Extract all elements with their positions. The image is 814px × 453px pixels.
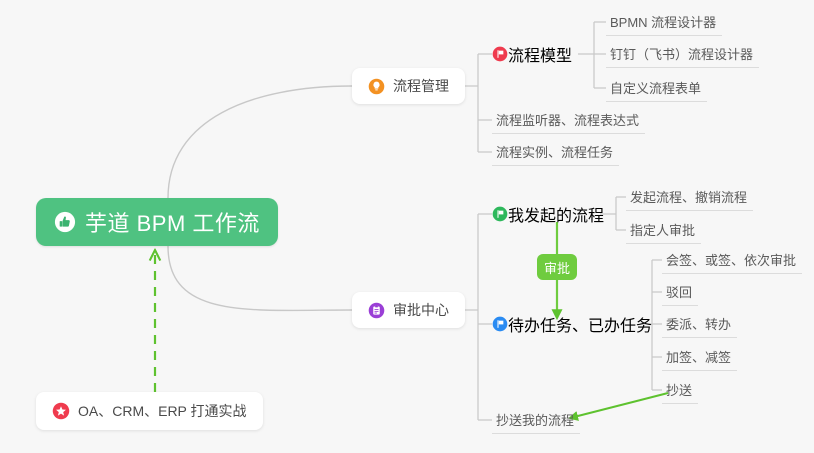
branch-node-approval-center[interactable]: 审批中心 xyxy=(352,292,465,328)
node-custom-process-form[interactable]: 自定义流程表单 xyxy=(606,74,707,102)
node-label: 待办任务、已办任务 xyxy=(508,312,652,336)
node-label: 流程监听器、流程表达式 xyxy=(496,110,639,129)
bottom-card-label: OA、CRM、ERP 打通实战 xyxy=(78,401,247,421)
branch-label: 流程管理 xyxy=(393,76,449,96)
node-label: 我发起的流程 xyxy=(508,202,604,226)
approval-tag-label: 审批 xyxy=(544,258,570,277)
node-label: 会签、或签、依次审批 xyxy=(666,250,796,269)
node-my-initiated-process[interactable]: 我发起的流程 xyxy=(492,200,604,228)
node-label: 抄送我的流程 xyxy=(496,410,574,429)
node-assignee-approval[interactable]: 指定人审批 xyxy=(626,216,701,244)
node-start-cancel-process[interactable]: 发起流程、撤销流程 xyxy=(626,183,753,211)
node-label: 驳回 xyxy=(666,282,692,301)
node-label: 抄送 xyxy=(666,380,692,399)
branch-label: 审批中心 xyxy=(393,300,449,320)
node-label: 委派、转办 xyxy=(666,314,731,333)
clipboard-icon xyxy=(368,302,385,319)
node-process-instance-task[interactable]: 流程实例、流程任务 xyxy=(492,138,619,166)
root-label: 芋道 BPM 工作流 xyxy=(85,206,260,238)
node-label: 加签、减签 xyxy=(666,347,731,366)
node-cc[interactable]: 抄送 xyxy=(662,376,698,404)
node-label: BPMN 流程设计器 xyxy=(610,12,716,31)
lightbulb-icon xyxy=(368,78,385,95)
flag-icon xyxy=(492,316,508,332)
branch-node-process-management[interactable]: 流程管理 xyxy=(352,68,465,104)
node-label: 流程模型 xyxy=(508,42,572,66)
node-label: 流程实例、流程任务 xyxy=(496,142,613,161)
node-dingtalk-feishu-designer[interactable]: 钉钉（飞书）流程设计器 xyxy=(606,40,759,68)
mindmap-canvas: 芋道 BPM 工作流 流程管理 流程模型 BPMN 流程设计器 钉钉（飞书）流程… xyxy=(0,0,814,453)
node-reject[interactable]: 驳回 xyxy=(662,278,698,306)
node-todo-done-task[interactable]: 待办任务、已办任务 xyxy=(492,310,652,338)
thumbs-up-icon xyxy=(54,211,76,233)
node-countersign[interactable]: 会签、或签、依次审批 xyxy=(662,246,802,274)
node-label: 发起流程、撤销流程 xyxy=(630,187,747,206)
node-cc-to-me-process[interactable]: 抄送我的流程 xyxy=(492,406,580,434)
node-label: 钉钉（飞书）流程设计器 xyxy=(610,44,753,63)
flag-icon xyxy=(492,206,508,222)
node-delegate-transfer[interactable]: 委派、转办 xyxy=(662,310,737,338)
node-process-model[interactable]: 流程模型 xyxy=(492,40,572,68)
approval-tag: 审批 xyxy=(537,254,577,280)
node-bpmn-designer[interactable]: BPMN 流程设计器 xyxy=(606,8,722,36)
node-process-listener-expression[interactable]: 流程监听器、流程表达式 xyxy=(492,106,645,134)
flag-icon xyxy=(492,46,508,62)
root-node[interactable]: 芋道 BPM 工作流 xyxy=(36,198,278,246)
bottom-card-node[interactable]: OA、CRM、ERP 打通实战 xyxy=(36,392,263,430)
node-label: 自定义流程表单 xyxy=(610,78,701,97)
star-icon xyxy=(52,402,70,420)
node-label: 指定人审批 xyxy=(630,220,695,239)
node-add-remove-sign[interactable]: 加签、减签 xyxy=(662,343,737,371)
